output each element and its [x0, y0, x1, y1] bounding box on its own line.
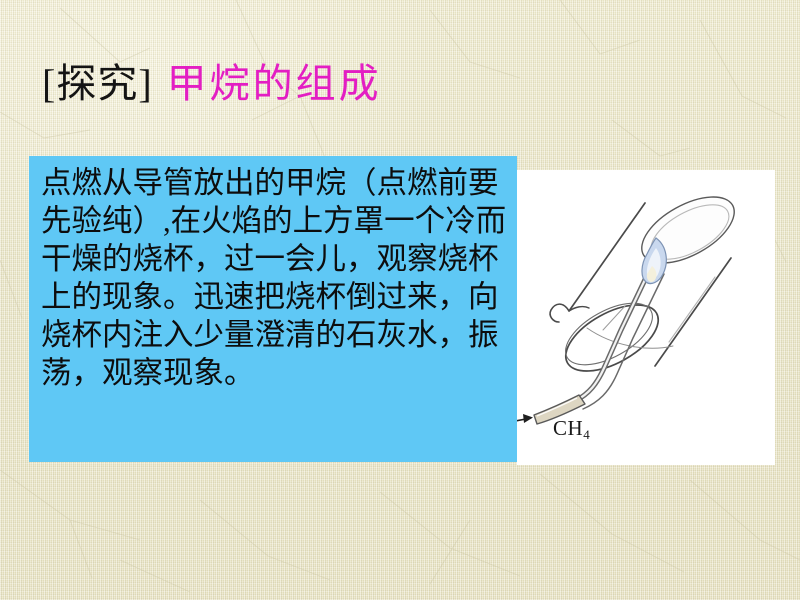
title-subject: 甲烷的组成 — [167, 61, 382, 106]
gas-label: CH4 — [553, 416, 590, 441]
instruction-panel: 点燃从导管放出的甲烷（点燃前要先验纯）,在火焰的上方罩一个冷而干燥的烧杯，过一会… — [29, 156, 517, 462]
page-title: [探究]甲烷的组成 — [42, 64, 382, 104]
title-bracketed-label: [探究] — [42, 61, 153, 106]
gas-inlet-arrow-icon — [517, 414, 533, 423]
beaker-icon — [550, 183, 745, 384]
gas-label-subscript: 4 — [583, 427, 590, 442]
instruction-text: 点燃从导管放出的甲烷（点燃前要先验纯）,在火焰的上方罩一个冷而干燥的烧杯，过一会… — [41, 164, 513, 392]
slide-canvas: [探究]甲烷的组成 点燃从导管放出的甲烷（点燃前要先验纯）,在火焰的上方罩一个冷… — [0, 0, 800, 600]
gas-label-text: CH — [553, 416, 583, 440]
experiment-figure-panel: CH4 — [517, 170, 775, 465]
